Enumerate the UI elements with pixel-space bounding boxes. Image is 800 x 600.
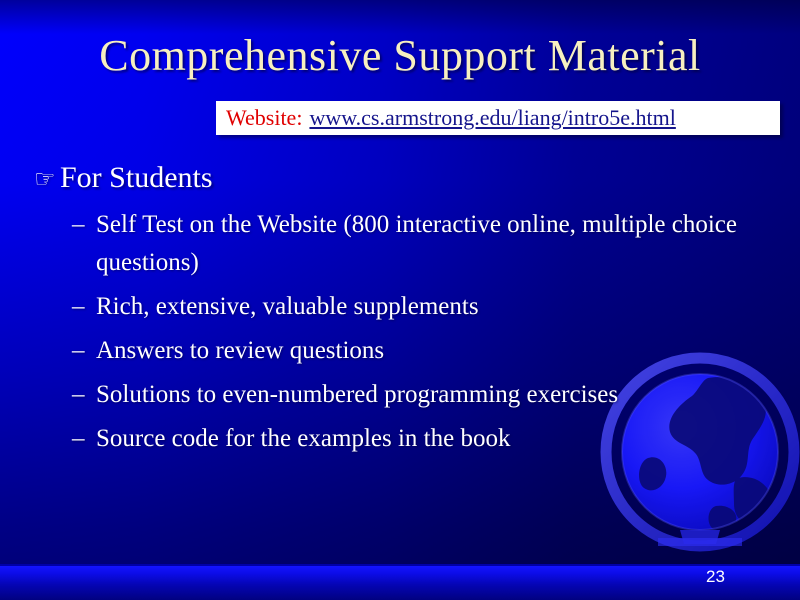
page-number: 23	[706, 566, 725, 588]
dash-bullet-icon: –	[72, 420, 96, 458]
footer-band	[0, 566, 800, 600]
bullet-level2-label: Self Test on the Website (800 interactiv…	[96, 206, 756, 282]
slide-background-top-shade	[0, 0, 800, 34]
bullet-level2-answers: – Answers to review questions	[0, 332, 800, 370]
dash-bullet-icon: –	[72, 332, 96, 370]
bullet-level1-for-students: ☞ For Students	[0, 160, 800, 196]
bullet-level2-label: Source code for the examples in the book	[96, 420, 510, 458]
presentation-slide: Comprehensive Support Material Website: …	[0, 0, 800, 600]
dash-bullet-icon: –	[72, 206, 96, 244]
bullet-level2-label: Solutions to even-numbered programming e…	[96, 376, 618, 414]
bullet-level2-solutions: – Solutions to even-numbered programming…	[0, 376, 800, 414]
slide-title: Comprehensive Support Material	[0, 30, 800, 82]
dash-bullet-icon: –	[72, 376, 96, 414]
bullet-level2-supplements: – Rich, extensive, valuable supplements	[0, 288, 800, 326]
dash-bullet-icon: –	[72, 288, 96, 326]
website-url-link[interactable]: www.cs.armstrong.edu/liang/intro5e.html	[309, 106, 675, 130]
bullet-level2-source-code: – Source code for the examples in the bo…	[0, 420, 800, 458]
website-callout-box[interactable]: Website: www.cs.armstrong.edu/liang/intr…	[216, 101, 780, 135]
bullet-level2-self-test: – Self Test on the Website (800 interact…	[0, 206, 800, 282]
pointing-hand-bullet-icon: ☞	[34, 162, 60, 196]
slide-body: ☞ For Students – Self Test on the Websit…	[0, 160, 800, 458]
bullet-level2-label: Rich, extensive, valuable supplements	[96, 288, 479, 326]
bullet-level1-label: For Students	[60, 160, 213, 196]
website-label: Website:	[226, 106, 302, 130]
bullet-level2-label: Answers to review questions	[96, 332, 384, 370]
